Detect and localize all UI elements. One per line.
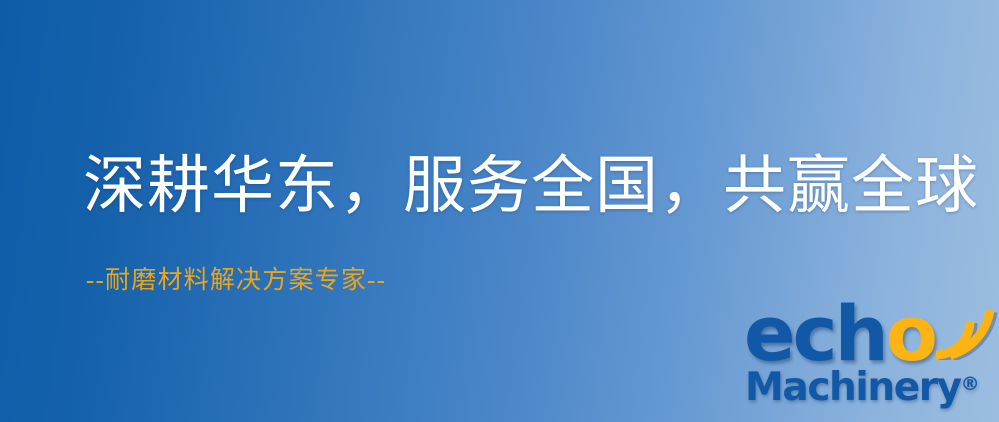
registered-trademark-icon: ® [961,373,980,395]
banner-subtitle: --耐磨材料解决方案专家-- [86,266,386,296]
logo-tagline-text: Machinery [745,365,961,410]
logo-wordmark: echo [744,296,935,372]
promo-banner: 深耕华东，服务全国，共赢全球 --耐磨材料解决方案专家-- echo Machi… [0,0,999,422]
echo-machinery-logo[interactable]: echo Machinery® [744,298,999,422]
logo-tagline: Machinery® [745,368,980,407]
signal-arcs-icon [928,298,998,360]
banner-headline: 深耕华东，服务全国，共赢全球 [83,152,953,220]
